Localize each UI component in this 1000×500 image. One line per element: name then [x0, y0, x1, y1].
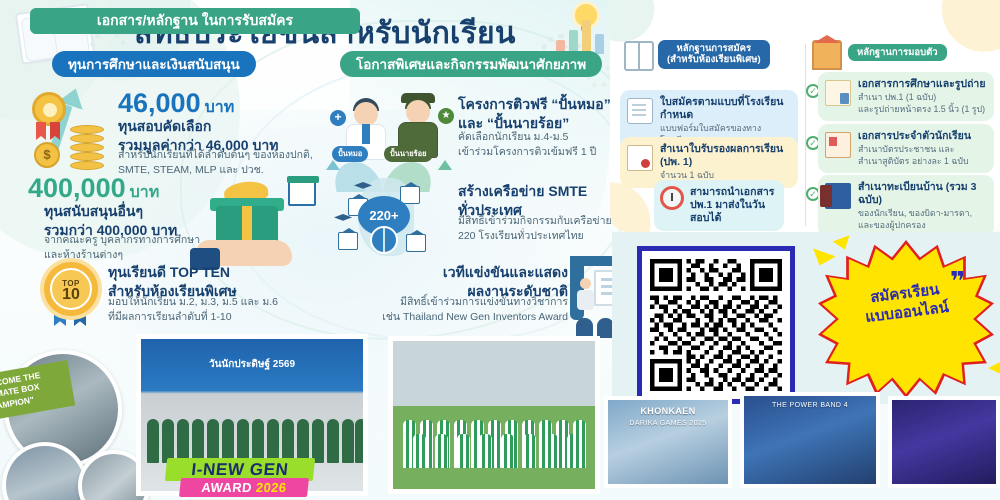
document-card-title: สำเนาใบรับรองผลการเรียน (ปพ. 1): [660, 143, 790, 169]
school-building-icon: [812, 40, 842, 70]
subsection-pill-application: หลักฐานการสมัคร (สำหรับห้องเรียนพิเศษ): [658, 40, 770, 69]
document-card-title: เอกสารประจำตัวนักเรียน: [858, 130, 986, 143]
spark-icon: [808, 248, 835, 269]
amount-unit: บาท: [130, 184, 160, 201]
panel-divider: [805, 44, 806, 226]
amount-46000: 46,000บาท: [118, 88, 234, 120]
award-label: AWARD: [201, 480, 253, 495]
book-ribbon-icon: [624, 41, 654, 71]
document-card-sub: ของนักเรียน, ของบิดา-มารดา, และของผู้ปกค…: [858, 208, 986, 231]
document-card-sub: สำเนาบัตรประชาชน และ สำเนาสูติบัตร อย่าง…: [858, 144, 986, 167]
document-card-title: ใบสมัครตามแบบที่โรงเรียนกำหนด: [660, 96, 790, 122]
photo-football-team: [388, 336, 600, 494]
document-card-title: สำเนาทะเบียนบ้าน (รวม 3 ฉบับ): [858, 181, 986, 207]
photo-science-day-people: [145, 411, 359, 463]
section-pill-scholarships: ทุนการศึกษาและเงินสนับสนุน: [52, 51, 256, 77]
amount-400000: 400,000บาท: [28, 173, 159, 205]
document-note-text: สามารถนำเอกสาร ปพ.1 มาส่งในวันสอบได้: [690, 186, 776, 225]
opportunity-3-sub: มีสิทธิ์เข้าร่วมการแข่งขันทางวิชาการ เช่…: [368, 295, 568, 325]
amount-value: 46,000: [118, 88, 201, 118]
photo-khonkaen-award: KHONKAEN DARIKA GAMES 2025: [604, 396, 732, 488]
subsection-pill-enrollment: หลักฐานการมอบตัว: [848, 44, 947, 61]
bar-chart-icon: [554, 12, 608, 54]
transcript-icon: [627, 145, 653, 171]
spark-icon: [832, 235, 853, 252]
document-card-title: เอกสารการศึกษาและรูปถ่าย: [858, 78, 986, 91]
document-card: เอกสารประจำตัวนักเรียน สำเนาบัตรประชาชน …: [818, 124, 994, 173]
section-pill-opportunities: โอกาสพิเศษและกิจกรรมพัฒนาศักยภาพ: [340, 51, 602, 77]
school-network-map-icon: 220+: [330, 172, 458, 264]
photo-certificate-handover: [888, 396, 1000, 488]
top-ten-ribbon-icon: TOP 10: [44, 262, 98, 316]
document-card: เอกสารการศึกษาและรูปถ่าย สำเนา ปพ.1 (1 ฉ…: [818, 72, 994, 121]
opportunity-1-sub: คัดเลือกนักเรียน ม.4-ม.5 เข้าร่วมโครงการ…: [458, 130, 596, 160]
documents-panel-title: เอกสาร/หลักฐาน ในการรับสมัคร: [30, 8, 360, 34]
scholarship-3-sub: มอบให้นักเรียน ม.2, ม.3, ม.5 และ ม.6 ที่…: [108, 295, 278, 324]
id-card-icon: [825, 132, 851, 158]
amount-value: 400,000: [28, 173, 126, 203]
doctor-soldier-icon: + ★ ปั้นหมอ ปั้นนายร้อย: [330, 88, 456, 174]
award-year: 2026: [255, 480, 287, 495]
scholarship-2-sub: จากคณะครู บุคลากรทางการศึกษา และห้างร้าน…: [44, 233, 200, 262]
photo-power-band-caption: THE POWER BAND 4: [744, 402, 876, 411]
alarm-clock-icon: [660, 186, 684, 210]
opportunity-2-sub: มีสิทธิ์เข้าร่วมกิจกรรมกับเครือข่ายกว่า …: [458, 214, 630, 244]
quote-mark-icon: ❞: [950, 274, 965, 290]
top-ten-badge-number: 10: [52, 288, 90, 302]
gift-hand-icon: [190, 174, 310, 270]
document-card-sub: สำเนา ปพ.1 (1 ฉบับ) และรูปถ่ายหน้าตรง 1.…: [858, 92, 986, 115]
i-new-gen-line2: AWARD 2026: [179, 478, 309, 497]
photo-football-players: [401, 382, 587, 468]
infographic-poster: สิทธิประโยชน์สำหรับนักเรียน ทุนการศึกษาแ…: [0, 0, 1000, 500]
photo-strip: "BECOME THE CLIMATE BOX CHAMPION" วันนัก…: [0, 330, 1000, 500]
house-registration-icon: [825, 183, 851, 209]
photo-khonkaen-caption: KHONKAEN: [608, 406, 728, 417]
i-new-gen-badge: I-NEW GEN AWARD 2026: [166, 458, 318, 498]
medal-coins-icon: $: [24, 86, 114, 172]
photo-power-band: THE POWER BAND 4: [740, 392, 880, 488]
opportunity-1-heading: โครงการติวฟรี “ปั้นหมอ” และ “ปั้นนายร้อย…: [458, 95, 611, 133]
certificate-photo-icon: [825, 80, 851, 106]
amount-unit: บาท: [205, 99, 235, 116]
form-pencil-icon: [627, 98, 653, 124]
photo-science-day-caption: วันนักประดิษฐ์ 2569: [141, 339, 363, 391]
document-note-card: สามารถนำเอกสาร ปพ.1 มาส่งในวันสอบได้: [654, 180, 784, 231]
document-card: สำเนาทะเบียนบ้าน (รวม 3 ฉบับ) ของนักเรีย…: [818, 175, 994, 237]
photo-khonkaen-caption2: DARIKA GAMES 2025: [608, 420, 728, 429]
